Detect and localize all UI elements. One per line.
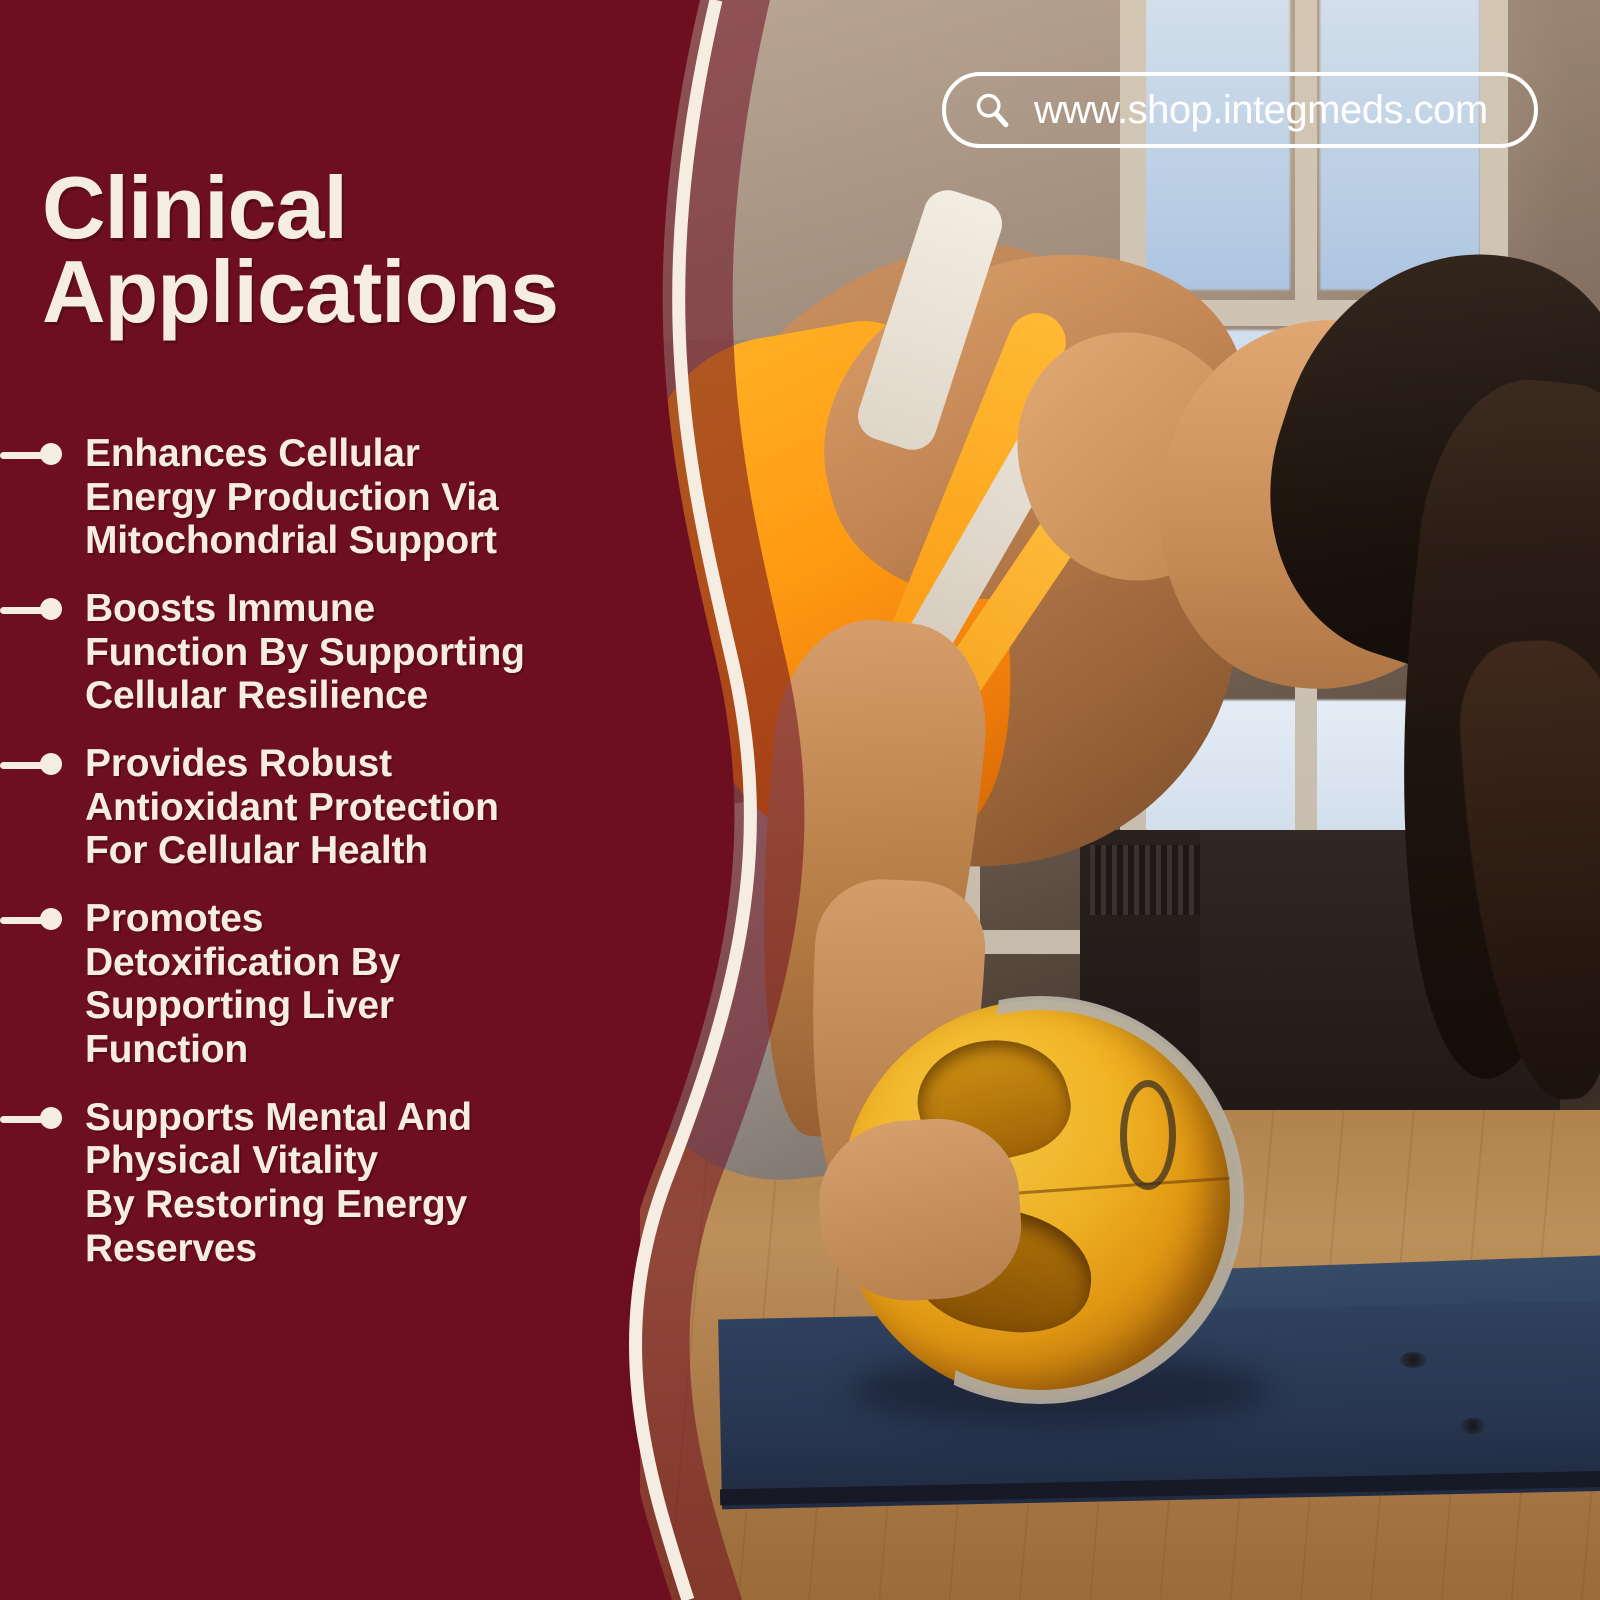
bullet-marker-icon: [0, 450, 64, 458]
list-item: Boosts Immune Function By Supporting Cel…: [0, 587, 700, 718]
page-title-line-1: Clinical: [42, 166, 682, 250]
list-item: Enhances Cellular Energy Production Via …: [0, 432, 700, 563]
list-item: Supports Mental And Physical Vitality By…: [0, 1096, 700, 1271]
search-url-text[interactable]: www.shop.integmeds.com: [1034, 88, 1488, 133]
benefits-list: Enhances Cellular Energy Production Via …: [0, 432, 700, 1294]
list-item: Promotes Detoxification By Supporting Li…: [0, 897, 700, 1072]
list-item-label: Boosts Immune Function By Supporting Cel…: [85, 587, 685, 718]
search-icon: [972, 90, 1012, 130]
hero-photo: [640, 0, 1600, 1600]
list-item-label: Promotes Detoxification By Supporting Li…: [85, 897, 685, 1072]
page-title-line-2: Applications: [42, 250, 682, 334]
list-item-label: Provides Robust Antioxidant Protection F…: [85, 742, 685, 873]
left-panel: Clinical Applications Enhances Cellular …: [0, 0, 700, 1600]
list-item: Provides Robust Antioxidant Protection F…: [0, 742, 700, 873]
page-title: Clinical Applications: [42, 166, 682, 335]
bullet-marker-icon: [0, 760, 64, 768]
search-bar[interactable]: www.shop.integmeds.com: [942, 72, 1538, 148]
bullet-marker-icon: [0, 605, 64, 613]
list-item-label: Enhances Cellular Energy Production Via …: [85, 432, 685, 563]
bullet-marker-icon: [0, 915, 64, 923]
bullet-marker-icon: [0, 1114, 64, 1122]
poster-canvas: Clinical Applications Enhances Cellular …: [0, 0, 1600, 1600]
list-item-label: Supports Mental And Physical Vitality By…: [85, 1096, 685, 1271]
